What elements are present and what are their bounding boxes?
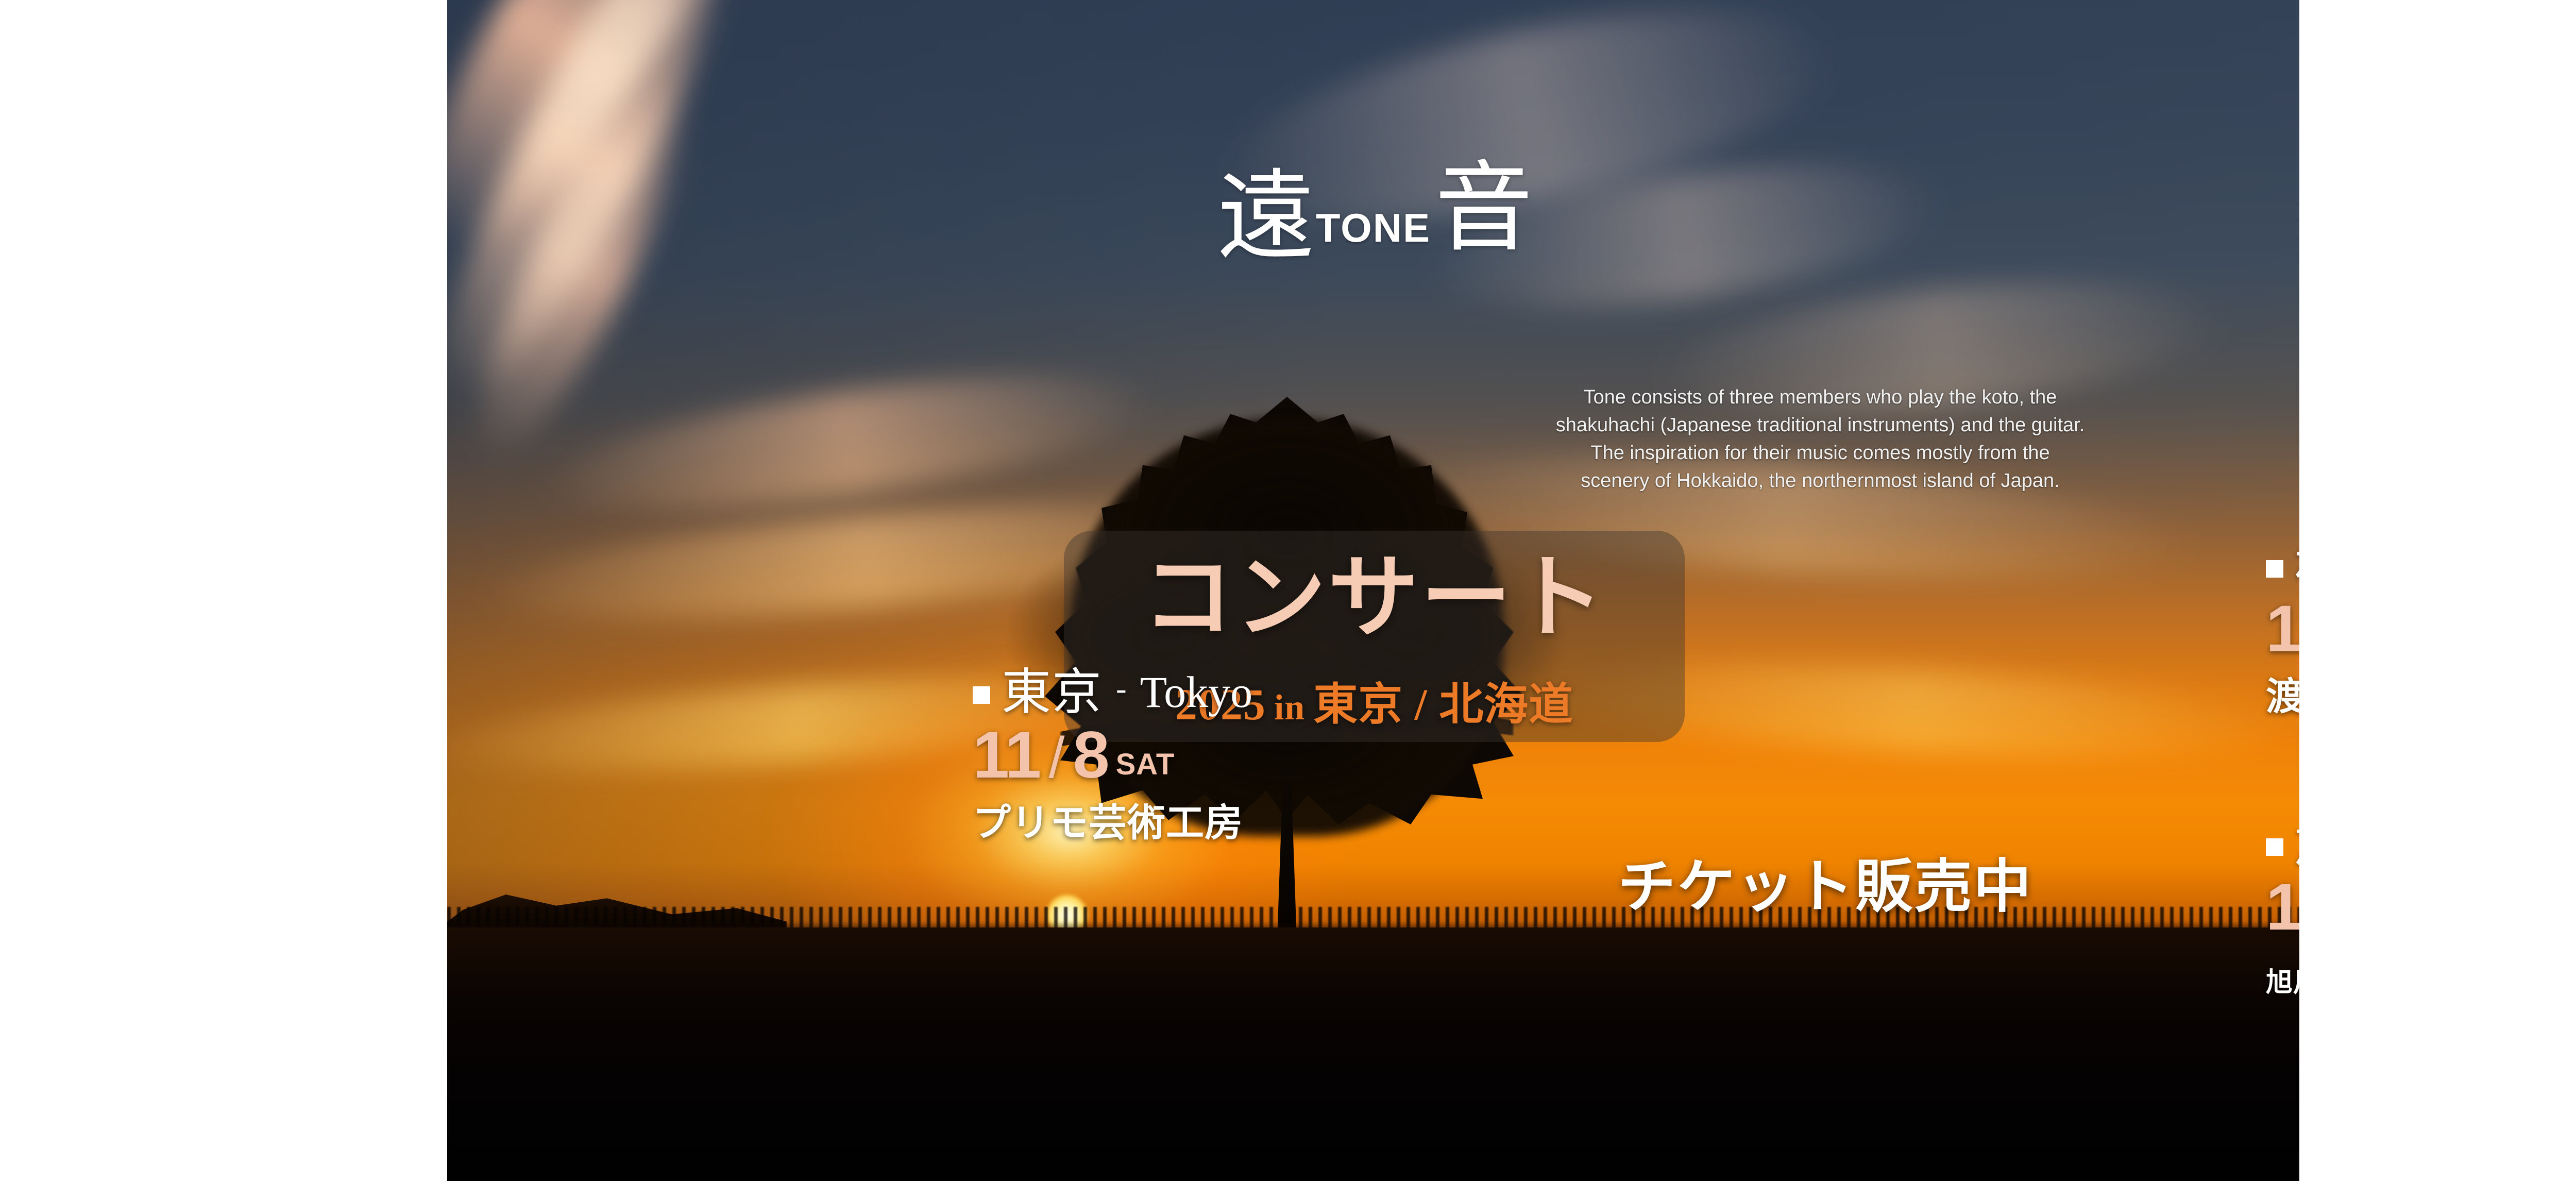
- venue-tokyo-slash: /: [1047, 729, 1065, 787]
- venue-asahikawa: 旭川 - Asahikawa 11 / 29 SAT 旭川市神楽公民館 木楽輪: [2266, 819, 2299, 1004]
- venue-asahikawa-month: 11: [2266, 876, 2299, 939]
- concert-poster: 遠 TONE 音 Tone consists of three members …: [447, 0, 2299, 1181]
- venue-tokyo: 東京 - Tokyo 11 / 8 SAT プリモ芸術工房: [973, 667, 1252, 847]
- venue-sapporo: 札幌 - Sapporo 11 / 28 FRI 渡辺淳一文学館: [2266, 541, 2299, 721]
- foreground-ground: [447, 927, 2299, 1181]
- venue-tokyo-month: 11: [973, 724, 1040, 787]
- venue-tokyo-city-jp: 東京: [1002, 667, 1103, 717]
- square-bullet-icon: [973, 686, 990, 704]
- venue-tokyo-place: プリモ芸術工房: [973, 792, 1252, 847]
- logo-kanji-right: 音: [1435, 162, 1530, 255]
- venue-sapporo-place: 渡辺淳一文学館: [2266, 666, 2299, 721]
- venue-sapporo-heading: 札幌 - Sapporo: [2266, 541, 2299, 590]
- venue-sapporo-date: 11 / 28 FRI: [2266, 598, 2299, 661]
- venue-sapporo-month: 11: [2266, 598, 2299, 661]
- venue-tokyo-dash: -: [1114, 671, 1129, 707]
- concert-in-word: in: [1266, 688, 1313, 728]
- square-bullet-icon: [2266, 560, 2283, 578]
- concert-title: コンサート: [1064, 552, 1685, 643]
- venue-tokyo-day: 8: [1073, 724, 1108, 787]
- logo-kanji-left: 遠: [1217, 170, 1312, 263]
- venue-asahikawa-date: 11 / 29 SAT: [2266, 876, 2299, 939]
- venue-tokyo-dayofweek: SAT: [1116, 750, 1175, 780]
- venue-asahikawa-place: 旭川市神楽公民館 木楽輪: [2266, 944, 2299, 1004]
- venue-sapporo-city-jp: 札幌: [2295, 541, 2299, 590]
- venue-asahikawa-place-prefix: 旭川市神楽公民館: [2266, 968, 2299, 998]
- venue-tokyo-city-en: Tokyo: [1140, 670, 1253, 714]
- group-description: Tone consists of three members who play …: [1555, 384, 2086, 495]
- tone-logo: 遠 TONE 音: [447, 170, 2299, 263]
- page-root: 遠 TONE 音 Tone consists of three members …: [0, 0, 2576, 1181]
- venue-tokyo-heading: 東京 - Tokyo: [973, 667, 1252, 717]
- tickets-status: チケット販売中: [1560, 840, 2091, 923]
- venue-asahikawa-heading: 旭川 - Asahikawa: [2266, 819, 2299, 869]
- venue-asahikawa-city-jp: 旭川: [2295, 819, 2299, 869]
- venue-tokyo-date: 11 / 8 SAT: [973, 724, 1252, 787]
- concert-locations: 東京 / 北海道: [1313, 680, 1573, 729]
- square-bullet-icon: [2266, 838, 2283, 856]
- logo-wordmark: TONE: [1316, 205, 1431, 251]
